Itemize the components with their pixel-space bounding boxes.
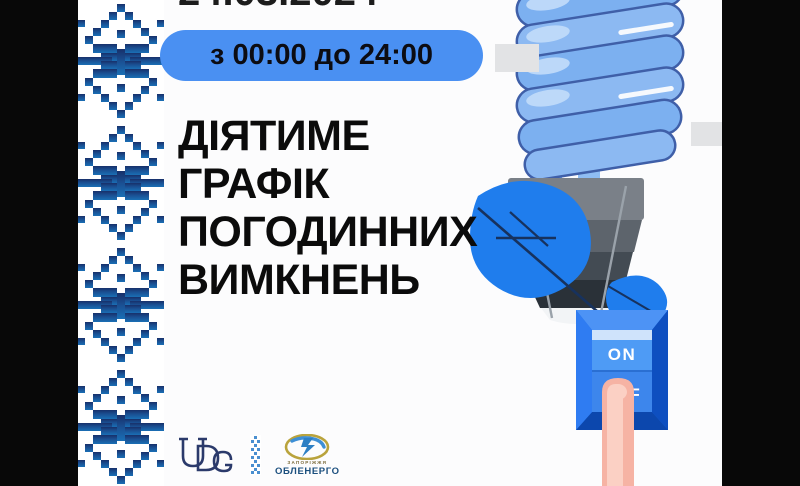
toggle-switch: ON OFF: [576, 310, 668, 430]
leaf-small: [606, 275, 667, 327]
date-line: 24.03.2024: [178, 0, 578, 15]
svg-text:OFF: OFF: [603, 385, 642, 404]
headline-line-3: ПОГОДИННИХ: [178, 208, 548, 256]
udg-logo: [178, 434, 236, 476]
time-range-badge: з 00:00 до 24:00: [160, 30, 483, 81]
headline-line-2: ГРАФІК: [178, 160, 548, 208]
letterbox-bar-right: [722, 0, 800, 486]
ornament-accent-strip: [250, 435, 261, 475]
zaporizhzhya-oblenergo-logo: ЗАПОРІЖЖЯ ОБЛЕНЕРГО: [275, 434, 340, 477]
headline-line-1: ДІЯТИМЕ: [178, 112, 548, 160]
page-title: ДІЯТИМЕ ГРАФІК ПОГОДИННИХ ВИМКНЕНЬ: [178, 112, 548, 304]
footer-logos: ЗАПОРІЖЖЯ ОБЛЕНЕРГО: [178, 430, 340, 480]
poster-canvas: ON OFF 24.03.2024 з 00:00 до 24:00 ДІЯТИ…: [0, 0, 800, 486]
light-ray-2: [691, 122, 722, 146]
oblenergo-name-text: ОБЛЕНЕРГО: [275, 466, 340, 477]
light-ray-1: [495, 44, 539, 72]
letterbox-bar-left: [0, 0, 78, 486]
headline-line-4: ВИМКНЕНЬ: [178, 256, 548, 304]
time-range-text: з 00:00 до 24:00: [210, 39, 433, 72]
poster-content: ON OFF 24.03.2024 з 00:00 до 24:00 ДІЯТИ…: [78, 0, 722, 486]
svg-text:ON: ON: [608, 345, 637, 364]
oblenergo-swoosh-icon: [284, 434, 330, 460]
vyshyvanka-pattern: [78, 0, 164, 486]
pointing-finger: [602, 378, 634, 486]
